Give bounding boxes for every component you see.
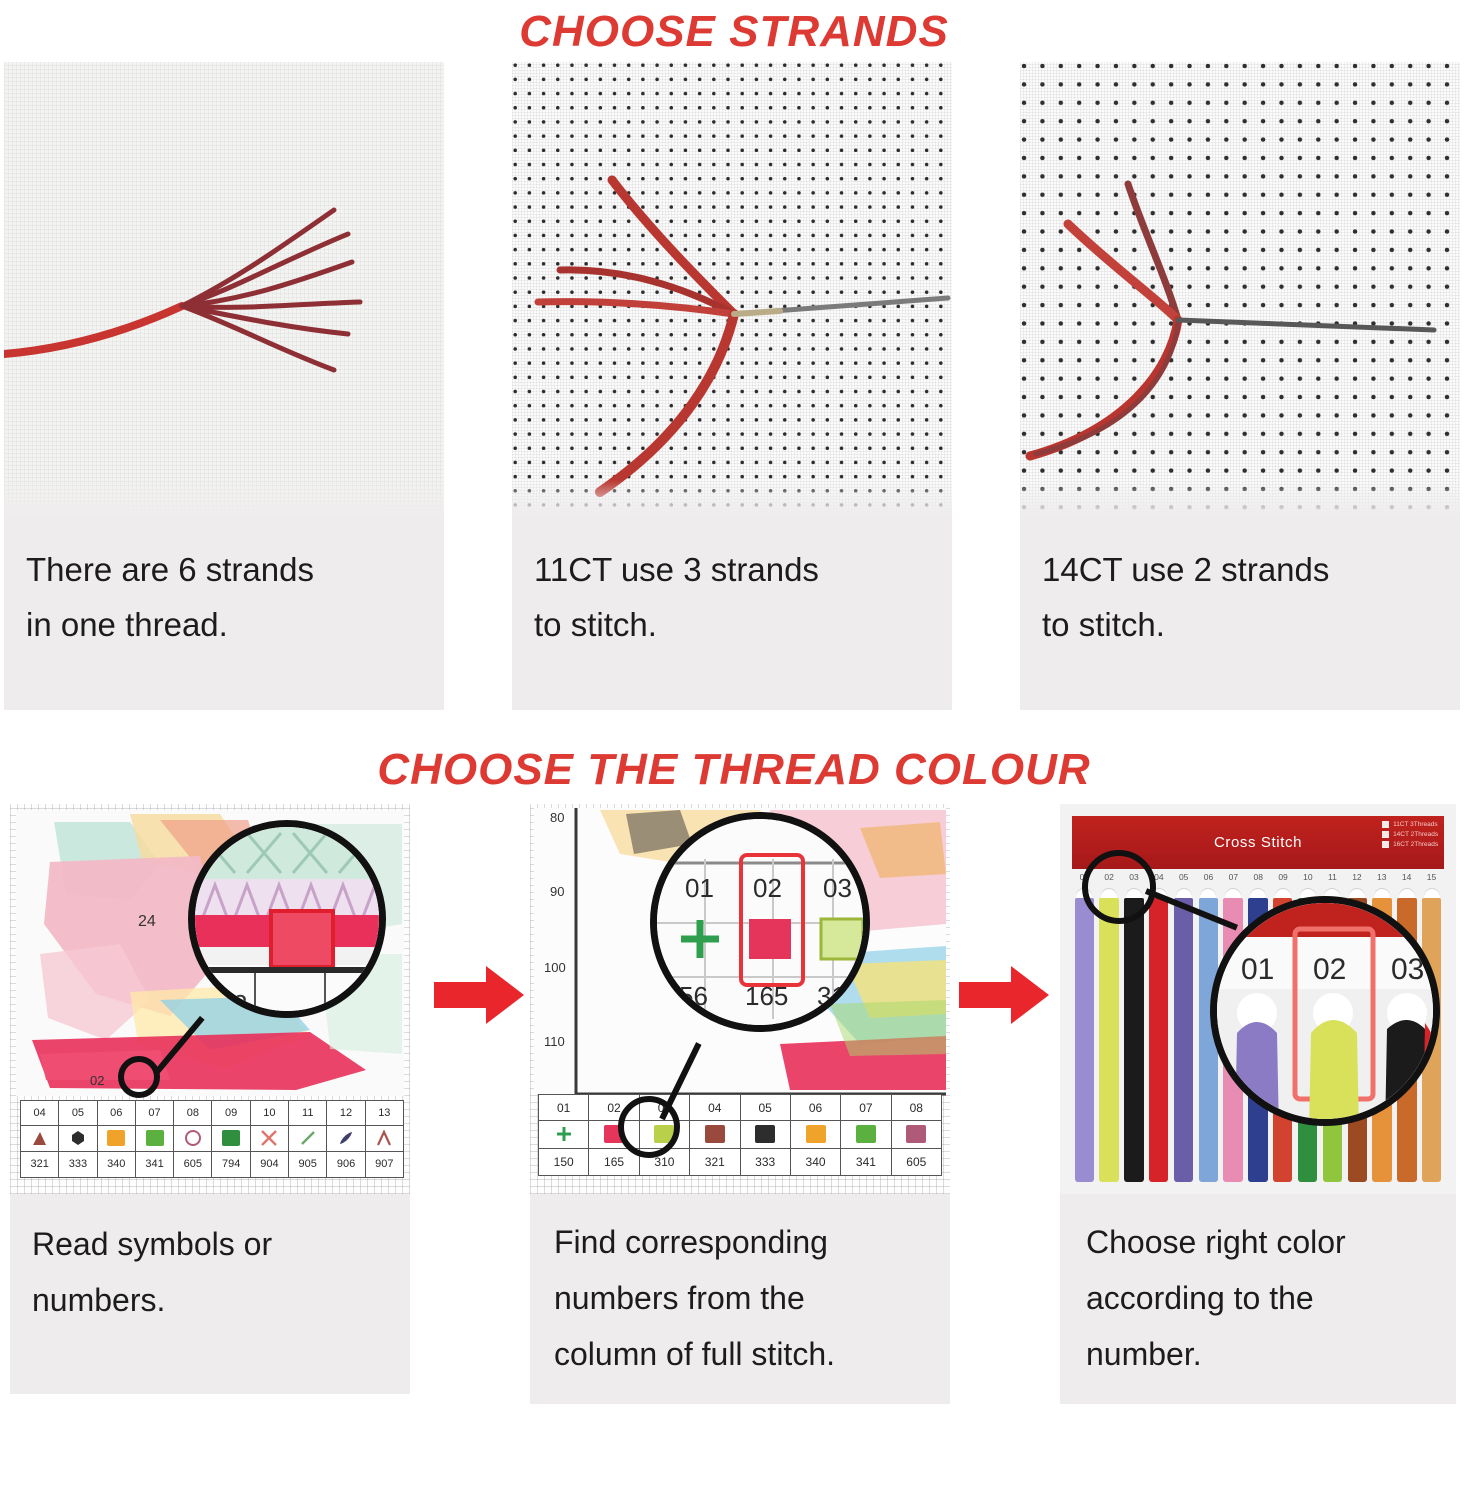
axis-label-100: 100 bbox=[544, 960, 566, 975]
legend-symbol-swatch bbox=[31, 1129, 49, 1147]
legend-symbol-swatch bbox=[222, 1130, 240, 1146]
legend-number: 06 bbox=[791, 1095, 840, 1121]
photo-bottom-fade bbox=[4, 480, 444, 514]
thread-skein bbox=[1174, 898, 1193, 1183]
legend-symbol-swatch bbox=[107, 1130, 125, 1146]
thread-card-number: 15 bbox=[1427, 872, 1436, 882]
legend-symbol-swatch bbox=[375, 1129, 393, 1147]
card-11ct: 11CT use 3 strands to stitch. bbox=[512, 62, 952, 734]
caption-11ct: 11CT use 3 strands to stitch. bbox=[512, 514, 952, 710]
legend-number: 11 bbox=[289, 1101, 326, 1126]
thread-card-checkbox[interactable]: 11CT 3Threads bbox=[1382, 821, 1438, 828]
axis-label-90: 90 bbox=[550, 884, 564, 899]
card-find-numbers: 80 90 100 110 01150021650331004321053330… bbox=[530, 804, 950, 1416]
legend-symbol bbox=[21, 1126, 58, 1152]
legend-number: 10 bbox=[251, 1101, 288, 1126]
thread-card-checkbox-list: 11CT 3Threads14CT 2Threads16CT 2Threads bbox=[1382, 821, 1438, 848]
thread-organizer: Cross Stitch 11CT 3Threads14CT 2Threads1… bbox=[1060, 804, 1456, 1194]
thread-card-number: 07 bbox=[1229, 872, 1238, 882]
caption-six-strands: There are 6 strands in one thread. bbox=[4, 514, 444, 710]
magnifier-symbols: 3 07 bbox=[188, 820, 386, 1018]
thread-card-number: 11 bbox=[1328, 872, 1337, 882]
legend-symbol bbox=[690, 1121, 739, 1148]
chart-number-02: 02 bbox=[90, 1073, 104, 1088]
legend-symbol bbox=[539, 1121, 588, 1148]
legend-code: 904 bbox=[251, 1152, 288, 1177]
legend-symbol-swatch bbox=[755, 1125, 775, 1143]
legend-symbol bbox=[892, 1121, 941, 1148]
legend-code: 907 bbox=[366, 1152, 403, 1177]
thread-card-number: 09 bbox=[1278, 872, 1287, 882]
thread-card-checkbox[interactable]: 16CT 2Threads bbox=[1382, 841, 1438, 848]
thread-skein bbox=[1149, 898, 1168, 1183]
caption-choose-color: Choose right color according to the numb… bbox=[1060, 1194, 1456, 1404]
legend-number: 04 bbox=[21, 1101, 58, 1126]
mag-skein-02: 02 bbox=[1313, 953, 1346, 986]
legend-number: 08 bbox=[892, 1095, 941, 1121]
legend-number: 07 bbox=[841, 1095, 890, 1121]
caption-14ct: 14CT use 2 strands to stitch. bbox=[1020, 514, 1460, 710]
page-title-choose-strands: CHOOSE STRANDS bbox=[0, 0, 1468, 62]
page-title-choose-thread-colour: CHOOSE THE THREAD COLOUR bbox=[0, 734, 1468, 804]
legend-number: 06 bbox=[98, 1101, 135, 1126]
arrow-cell-1 bbox=[430, 804, 530, 1416]
checkbox-icon bbox=[1382, 821, 1389, 828]
legend-code: 341 bbox=[136, 1152, 173, 1177]
legend-column: 06340 bbox=[791, 1095, 841, 1175]
checkbox-label: 16CT 2Threads bbox=[1393, 841, 1438, 848]
legend-symbol bbox=[59, 1126, 96, 1152]
legend-column: 08605 bbox=[892, 1095, 941, 1175]
legend-symbol-swatch bbox=[185, 1130, 201, 1146]
legend-number: 05 bbox=[59, 1101, 96, 1126]
symbol-open-square-icon bbox=[821, 919, 863, 959]
legend-symbol bbox=[841, 1121, 890, 1148]
caption-read-symbols: Read symbols or numbers. bbox=[10, 1194, 410, 1394]
legend-symbol bbox=[366, 1126, 403, 1152]
legend-column: 06340 bbox=[98, 1101, 136, 1177]
legend-symbol bbox=[741, 1121, 790, 1148]
thread-card-title: Cross Stitch bbox=[1214, 834, 1302, 851]
legend-table-numbers: 0115002165033100432105333063400734108605 bbox=[538, 1094, 942, 1176]
legend-code: 321 bbox=[690, 1149, 739, 1175]
legend-symbol-swatch bbox=[705, 1125, 725, 1143]
chart-number-24: 24 bbox=[138, 913, 156, 930]
legend-column: 09794 bbox=[212, 1101, 250, 1177]
legend-symbol bbox=[251, 1126, 288, 1152]
legend-column: 04321 bbox=[690, 1095, 740, 1175]
thread-skein bbox=[1075, 898, 1094, 1183]
symbol-filled-square-icon bbox=[749, 919, 791, 959]
legend-code: 794 bbox=[212, 1152, 249, 1177]
checkbox-icon bbox=[1382, 831, 1389, 838]
thread-card-number: 08 bbox=[1253, 872, 1262, 882]
legend-column: 07341 bbox=[136, 1101, 174, 1177]
thread-card-number: 13 bbox=[1377, 872, 1386, 882]
checkbox-label: 14CT 2Threads bbox=[1393, 831, 1438, 838]
caption-find-numbers: Find corresponding numbers from the colu… bbox=[530, 1194, 950, 1404]
chart-canvas: 80 90 100 110 01150021650331004321053330… bbox=[530, 804, 950, 1194]
legend-symbol-swatch bbox=[906, 1125, 926, 1143]
legend-symbol-swatch bbox=[337, 1129, 355, 1147]
legend-code: 150 bbox=[539, 1149, 588, 1175]
legend-symbol-swatch bbox=[146, 1130, 164, 1146]
legend-column: 08605 bbox=[174, 1101, 212, 1177]
magnifier-source-circle bbox=[118, 1056, 160, 1098]
mag-skein-03: 03 bbox=[1391, 953, 1424, 986]
thread-skein bbox=[1099, 898, 1118, 1183]
legend-column: 07341 bbox=[841, 1095, 891, 1175]
thread-card-number: 10 bbox=[1303, 872, 1312, 882]
legend-code: 333 bbox=[741, 1149, 790, 1175]
legend-number: 04 bbox=[690, 1095, 739, 1121]
legend-column: 11905 bbox=[289, 1101, 327, 1177]
two-strands-needle-illustration bbox=[1020, 62, 1460, 514]
colour-card-row: 24 02 0432105333063400734108605097941090… bbox=[0, 804, 1468, 1416]
card-read-symbols: 24 02 0432105333063400734108605097941090… bbox=[10, 804, 430, 1416]
legend-symbol-swatch bbox=[260, 1129, 278, 1147]
legend-number: 05 bbox=[741, 1095, 790, 1121]
strands-card-row: There are 6 strands in one thread. 11CT … bbox=[0, 62, 1468, 734]
legend-number: 08 bbox=[174, 1101, 211, 1126]
legend-symbol bbox=[289, 1126, 326, 1152]
checkbox-label: 11CT 3Threads bbox=[1393, 821, 1438, 828]
thread-card-checkbox[interactable]: 14CT 2Threads bbox=[1382, 831, 1438, 838]
legend-code: 605 bbox=[892, 1149, 941, 1175]
legend-column: 05333 bbox=[741, 1095, 791, 1175]
checkbox-icon bbox=[1382, 841, 1389, 848]
thread-skein bbox=[1124, 898, 1143, 1183]
legend-column: 13907 bbox=[366, 1101, 403, 1177]
arrow-right-icon-1 bbox=[434, 964, 526, 1026]
legend-code: 905 bbox=[289, 1152, 326, 1177]
mag-col-02: 02 bbox=[753, 873, 782, 903]
six-strands-illustration bbox=[4, 62, 444, 514]
photo-pattern-chart-symbols: 24 02 0432105333063400734108605097941090… bbox=[10, 804, 410, 1194]
photo-pattern-chart-numbers: 80 90 100 110 01150021650331004321053330… bbox=[530, 804, 950, 1194]
legend-column: 04321 bbox=[21, 1101, 59, 1177]
legend-symbol-swatch bbox=[69, 1129, 87, 1147]
three-strands-needle-illustration bbox=[512, 62, 952, 514]
magnifier-numbers: 01 02 03 56 165 310 bbox=[650, 812, 870, 1032]
legend-code: 605 bbox=[174, 1152, 211, 1177]
legend-code: 333 bbox=[59, 1152, 96, 1177]
photo-14ct-two-strands-needle bbox=[1020, 62, 1460, 514]
thread-card-number: 12 bbox=[1352, 872, 1361, 882]
mag-col-01: 01 bbox=[685, 873, 714, 903]
thread-card-number: 14 bbox=[1402, 872, 1411, 882]
card-14ct: 14CT use 2 strands to stitch. bbox=[1020, 62, 1460, 734]
legend-column: 05333 bbox=[59, 1101, 97, 1177]
mag-col-03: 03 bbox=[823, 873, 852, 903]
axis-label-80: 80 bbox=[550, 810, 564, 825]
legend-number: 12 bbox=[327, 1101, 364, 1126]
legend-symbol bbox=[174, 1126, 211, 1152]
card-six-strands: There are 6 strands in one thread. bbox=[4, 62, 444, 734]
legend-symbol bbox=[327, 1126, 364, 1152]
chart-canvas: 24 02 0432105333063400734108605097941090… bbox=[10, 804, 410, 1194]
legend-number: 07 bbox=[136, 1101, 173, 1126]
legend-symbol-swatch bbox=[554, 1125, 574, 1143]
photo-six-strands-on-fabric bbox=[4, 62, 444, 514]
photo-bottom-fade bbox=[1020, 480, 1460, 514]
legend-number: 09 bbox=[212, 1101, 249, 1126]
legend-column: 10904 bbox=[251, 1101, 289, 1177]
legend-number: 13 bbox=[366, 1101, 403, 1126]
legend-column: 12906 bbox=[327, 1101, 365, 1177]
mag-code-165: 165 bbox=[745, 981, 788, 1011]
card-choose-color: Cross Stitch 11CT 3Threads14CT 2Threads1… bbox=[1060, 804, 1460, 1416]
legend-code: 340 bbox=[98, 1152, 135, 1177]
legend-code: 906 bbox=[327, 1152, 364, 1177]
arrow-right-icon-2 bbox=[959, 964, 1051, 1026]
legend-symbol bbox=[136, 1126, 173, 1152]
arrow-cell-2 bbox=[950, 804, 1060, 1416]
legend-code: 321 bbox=[21, 1152, 58, 1177]
axis-label-110: 110 bbox=[544, 1034, 565, 1049]
legend-code: 340 bbox=[791, 1149, 840, 1175]
legend-number: 01 bbox=[539, 1095, 588, 1121]
photo-11ct-three-strands-needle bbox=[512, 62, 952, 514]
legend-symbol bbox=[98, 1126, 135, 1152]
photo-bottom-fade bbox=[512, 480, 952, 514]
mag-skein-01: 01 bbox=[1241, 953, 1274, 986]
photo-thread-organizer-card: Cross Stitch 11CT 3Threads14CT 2Threads1… bbox=[1060, 804, 1456, 1194]
magnifier-skeins: 01 02 03 bbox=[1210, 896, 1440, 1126]
thread-card-number: 05 bbox=[1179, 872, 1188, 882]
legend-symbol-swatch bbox=[806, 1125, 826, 1143]
legend-column: 01150 bbox=[539, 1095, 589, 1175]
legend-symbol-swatch bbox=[299, 1129, 317, 1147]
thread-card-number: 06 bbox=[1204, 872, 1213, 882]
legend-symbol-swatch bbox=[856, 1125, 876, 1143]
legend-code: 341 bbox=[841, 1149, 890, 1175]
legend-table-symbols: 0432105333063400734108605097941090411905… bbox=[20, 1100, 404, 1178]
legend-symbol bbox=[212, 1126, 249, 1152]
legend-symbol bbox=[791, 1121, 840, 1148]
magnifier-source-circle bbox=[1082, 850, 1156, 924]
